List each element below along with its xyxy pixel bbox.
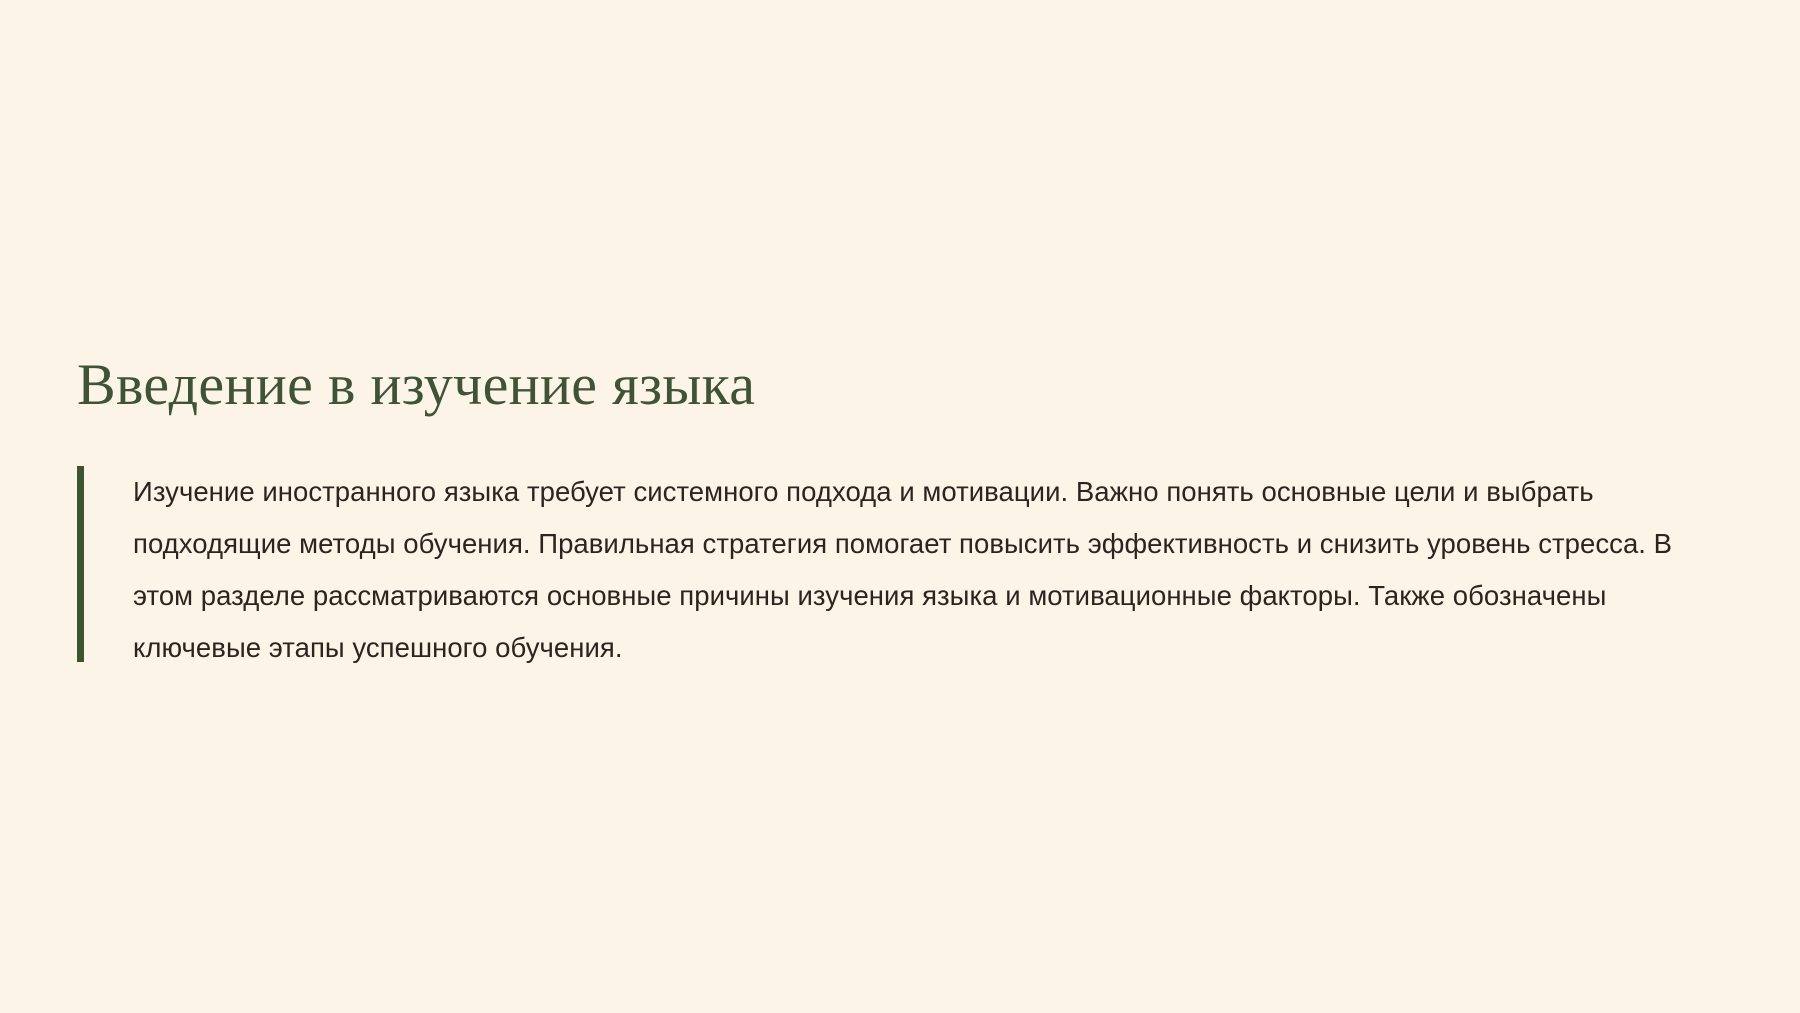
accent-bar [77, 466, 84, 662]
body-paragraph: Изучение иностранного языка требует сист… [133, 466, 1703, 674]
page-title: Введение в изучение языка [77, 352, 1727, 418]
content-container: Введение в изучение языка Изучение иност… [77, 352, 1727, 674]
callout-block: Изучение иностранного языка требует сист… [77, 466, 1727, 674]
document-page: Введение в изучение языка Изучение иност… [0, 0, 1800, 1013]
